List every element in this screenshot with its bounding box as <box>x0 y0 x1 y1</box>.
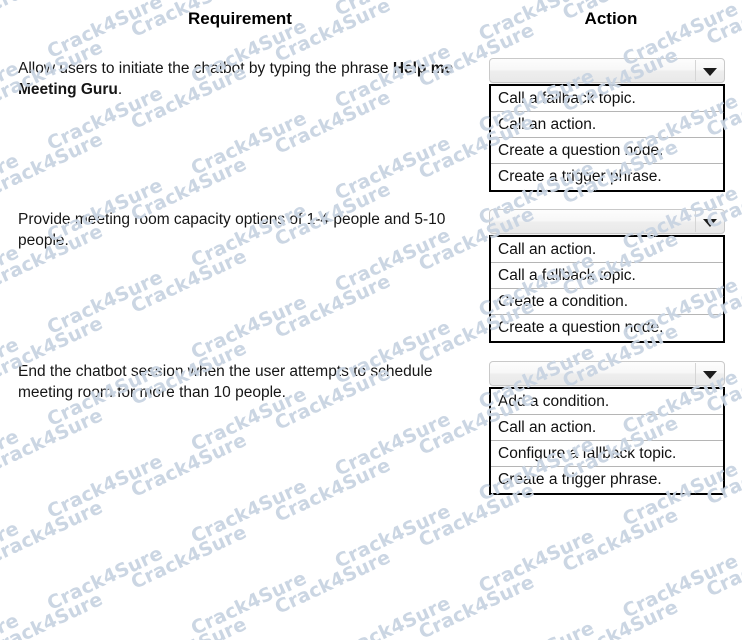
requirement-text-tail: . <box>118 81 122 98</box>
dropdown-option[interactable]: Create a trigger phrase. <box>491 467 723 493</box>
requirement-text-lead: Provide meeting room capacity options of… <box>18 211 445 249</box>
action-dropdown-options[interactable]: Call a fallback topic. Call an action. C… <box>489 84 725 192</box>
column-header-requirement: Requirement <box>0 8 480 30</box>
combobox-divider <box>695 60 696 81</box>
requirement-text: Allow users to initiate the chatbot by t… <box>18 58 468 100</box>
dropdown-option[interactable]: Create a question node. <box>491 138 723 164</box>
combobox-divider <box>695 211 696 232</box>
dropdown-option[interactable]: Call an action. <box>491 112 723 138</box>
action-dropdown-combobox[interactable] <box>489 58 725 83</box>
requirement-text: Provide meeting room capacity options of… <box>18 209 468 251</box>
chevron-down-icon[interactable] <box>703 371 717 379</box>
dropdown-option[interactable]: Create a trigger phrase. <box>491 164 723 190</box>
combobox-divider <box>695 363 696 384</box>
dropdown-option[interactable]: Call a fallback topic. <box>491 86 723 112</box>
dropdown-option[interactable]: Add a condition. <box>491 389 723 415</box>
dropdown-option[interactable]: Create a question node. <box>491 315 723 341</box>
action-dropdown-options[interactable]: Add a condition. Call an action. Configu… <box>489 387 725 495</box>
action-dropdown-combobox[interactable] <box>489 361 725 386</box>
chevron-down-icon[interactable] <box>703 68 717 76</box>
question-page: Requirement Action Allow users to initia… <box>0 0 742 496</box>
requirement-text-lead: End the chatbot session when the user at… <box>18 363 432 401</box>
dropdown-option[interactable]: Call a fallback topic. <box>491 263 723 289</box>
column-headers: Requirement Action <box>0 8 742 40</box>
chevron-down-icon[interactable] <box>703 219 717 227</box>
action-dropdown-options[interactable]: Call an action. Call a fallback topic. C… <box>489 235 725 343</box>
dropdown-option[interactable]: Call an action. <box>491 415 723 441</box>
dropdown-option[interactable]: Call an action. <box>491 237 723 263</box>
dropdown-option[interactable]: Configure a fallback topic. <box>491 441 723 467</box>
requirement-text-lead: Allow users to initiate the chatbot by t… <box>18 60 393 77</box>
action-dropdown-combobox[interactable] <box>489 209 725 234</box>
dropdown-option[interactable]: Create a condition. <box>491 289 723 315</box>
column-header-action: Action <box>480 8 742 30</box>
requirement-text: End the chatbot session when the user at… <box>18 361 468 403</box>
